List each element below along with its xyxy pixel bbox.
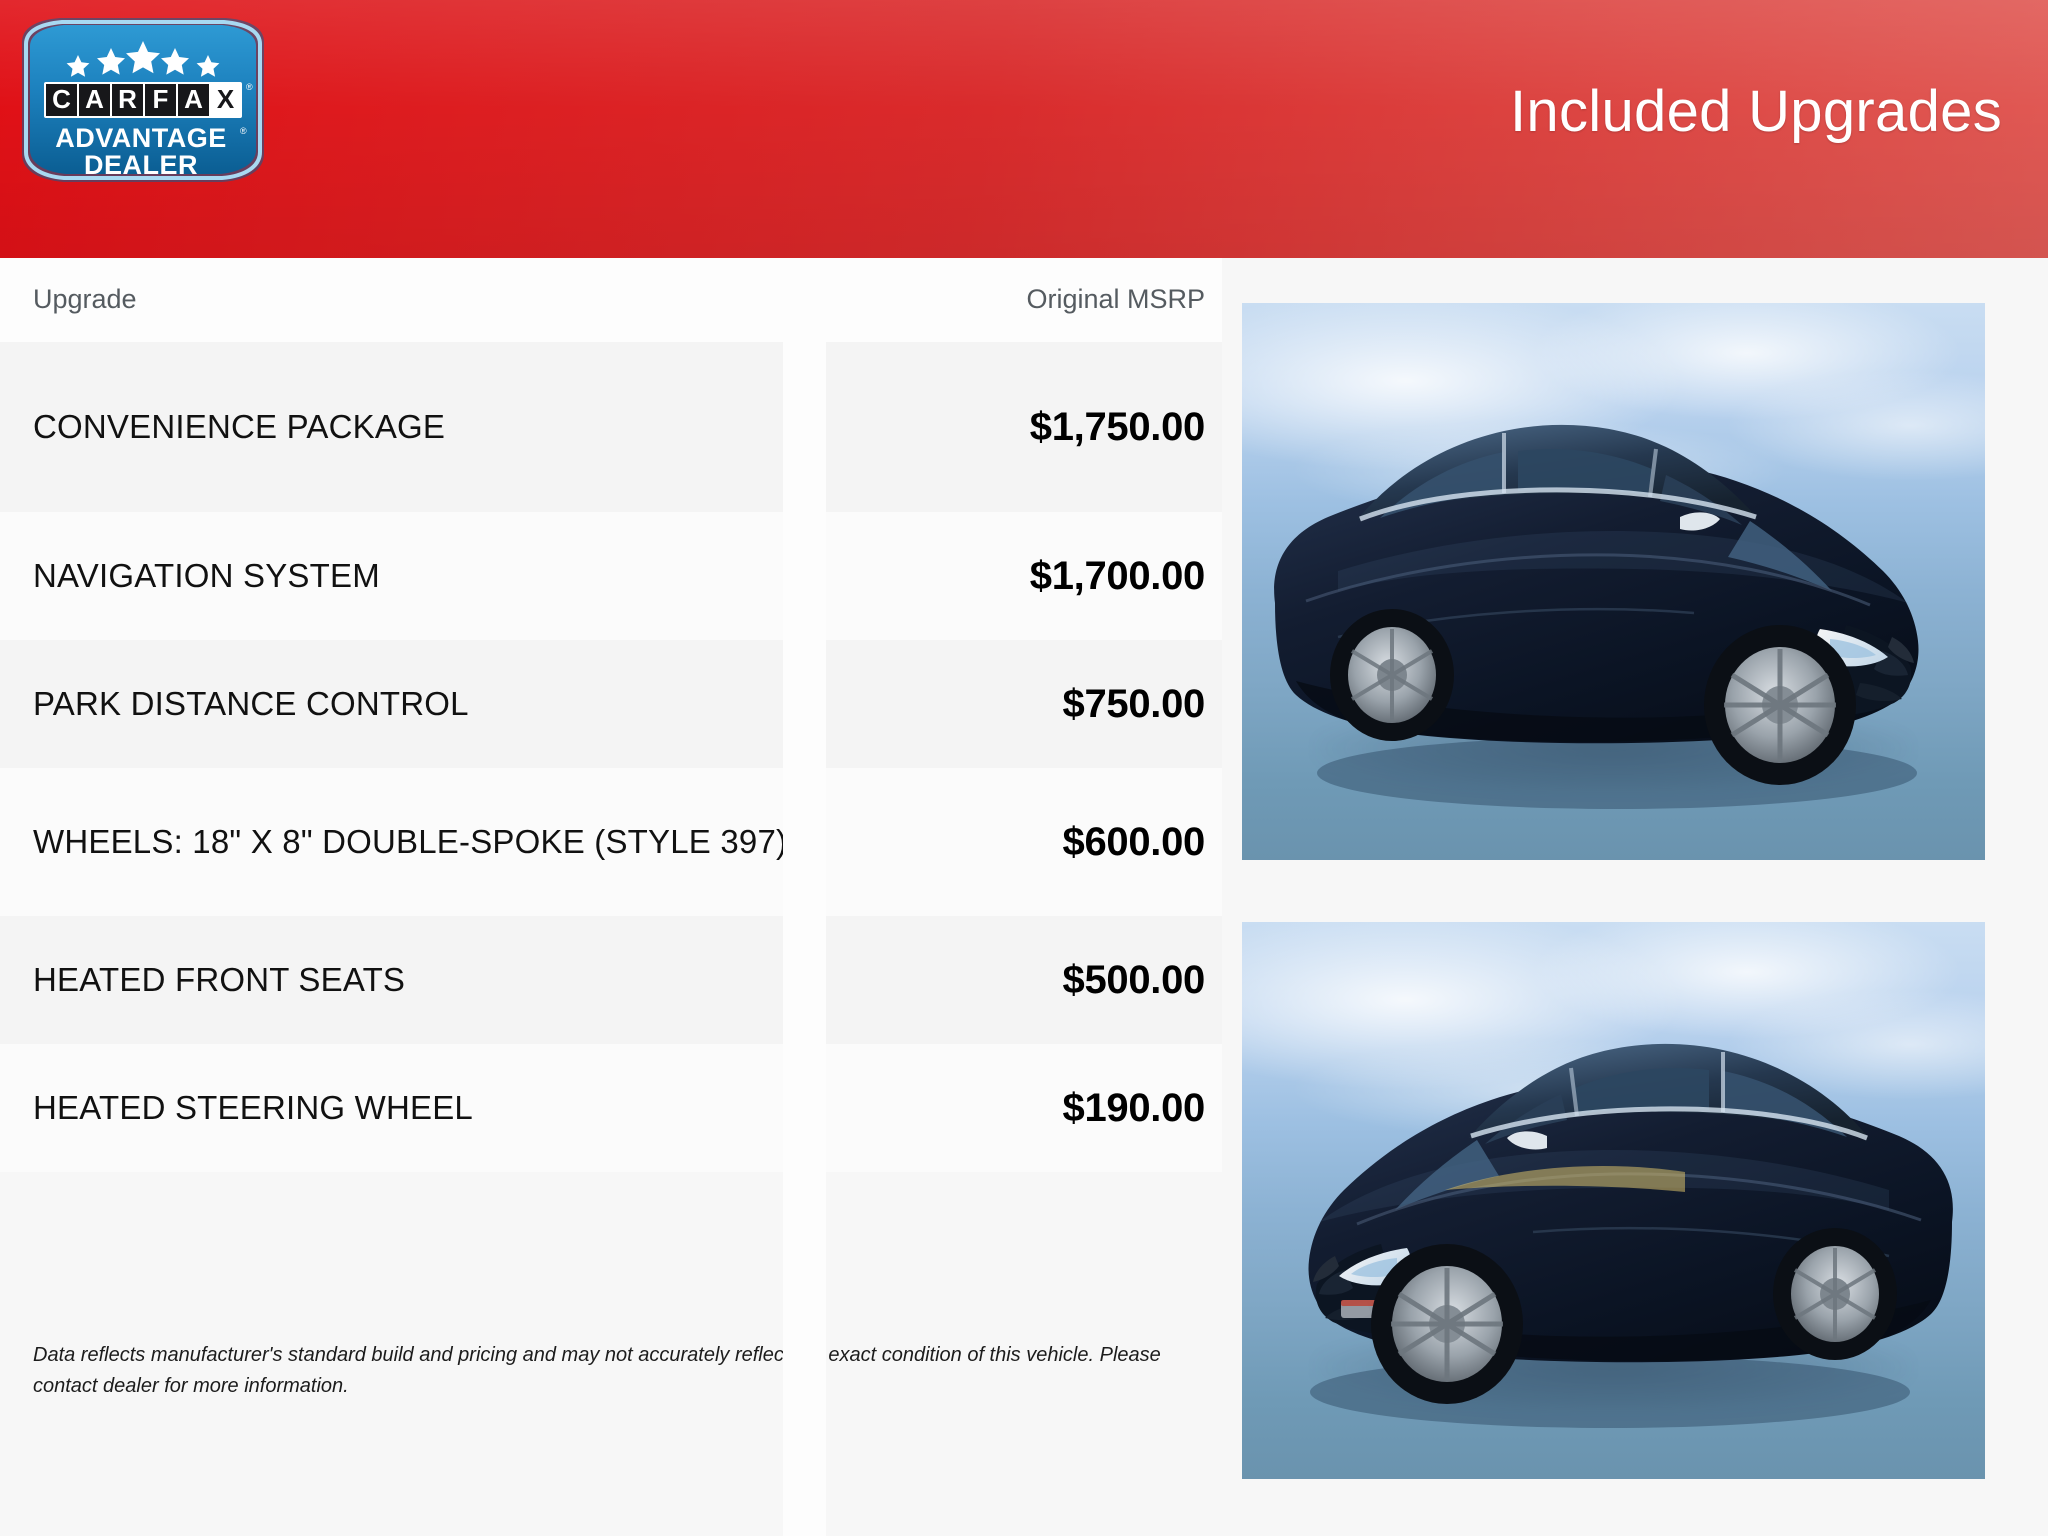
table-row: HEATED FRONT SEATS $500.00 <box>0 916 1222 1044</box>
vehicle-photo-front-left-quarter[interactable] <box>1242 922 1985 1479</box>
svg-text:A: A <box>85 84 104 114</box>
svg-text:A: A <box>184 84 203 114</box>
upgrade-name: PARK DISTANCE CONTROL <box>33 684 1063 724</box>
page-title: Included Upgrades <box>1510 78 2002 145</box>
vehicle-photo-front-right-quarter[interactable] <box>1242 303 1985 860</box>
page-header: C A R F A X ® ADVANTAGE ® DEALER Include… <box>0 0 2048 258</box>
upgrade-price: $1,750.00 <box>1030 405 1205 450</box>
table-row: CONVENIENCE PACKAGE $1,750.00 <box>0 342 1222 512</box>
upgrade-name: WHEELS: 18" X 8" DOUBLE-SPOKE (STYLE 397… <box>33 822 1063 862</box>
upgrade-price: $600.00 <box>1063 820 1206 865</box>
car-illustration <box>1242 922 1985 1479</box>
table-row: HEATED STEERING WHEEL $190.00 <box>0 1044 1222 1172</box>
main-content: Upgrade Original MSRP CONVENIENCE PACKAG… <box>0 258 2048 1536</box>
car-illustration <box>1242 303 1985 860</box>
column-header-msrp: Original MSRP <box>1026 284 1205 315</box>
upgrade-price: $190.00 <box>1063 1086 1206 1131</box>
photo-gutter <box>783 258 826 1536</box>
rear-wheel <box>1330 609 1454 741</box>
upgrade-name: NAVIGATION SYSTEM <box>33 556 1030 596</box>
upgrade-price: $1,700.00 <box>1030 554 1205 599</box>
carfax-wordmark: C A R F A X ® <box>44 82 253 118</box>
svg-text:®: ® <box>246 82 253 92</box>
table-header-row: Upgrade Original MSRP <box>0 258 1222 342</box>
svg-text:DEALER: DEALER <box>84 150 198 180</box>
rear-wheel <box>1773 1228 1897 1360</box>
upgrade-name: HEATED FRONT SEATS <box>33 960 1063 1000</box>
front-wheel <box>1704 625 1856 785</box>
svg-text:F: F <box>153 84 169 114</box>
upgrade-name: HEATED STEERING WHEEL <box>33 1088 1063 1128</box>
svg-text:X: X <box>217 84 235 114</box>
column-header-upgrade: Upgrade <box>33 284 137 315</box>
front-wheel <box>1371 1244 1523 1404</box>
upgrade-price: $500.00 <box>1063 958 1206 1003</box>
svg-text:®: ® <box>240 126 247 136</box>
table-row: PARK DISTANCE CONTROL $750.00 <box>0 640 1222 768</box>
disclaimer-text: Data reflects manufacturer's standard bu… <box>33 1340 1203 1402</box>
table-row: WHEELS: 18" X 8" DOUBLE-SPOKE (STYLE 397… <box>0 768 1222 916</box>
upgrades-table: Upgrade Original MSRP CONVENIENCE PACKAG… <box>0 258 1222 1536</box>
table-row: NAVIGATION SYSTEM $1,700.00 <box>0 512 1222 640</box>
svg-text:C: C <box>52 84 71 114</box>
vehicle-photo-gallery <box>1222 258 2048 1536</box>
carfax-advantage-dealer-badge: C A R F A X ® ADVANTAGE ® DEALER <box>8 8 278 190</box>
upgrade-price: $750.00 <box>1063 682 1206 727</box>
svg-text:ADVANTAGE: ADVANTAGE <box>55 123 227 153</box>
svg-text:R: R <box>118 84 137 114</box>
upgrade-name: CONVENIENCE PACKAGE <box>33 407 1030 447</box>
